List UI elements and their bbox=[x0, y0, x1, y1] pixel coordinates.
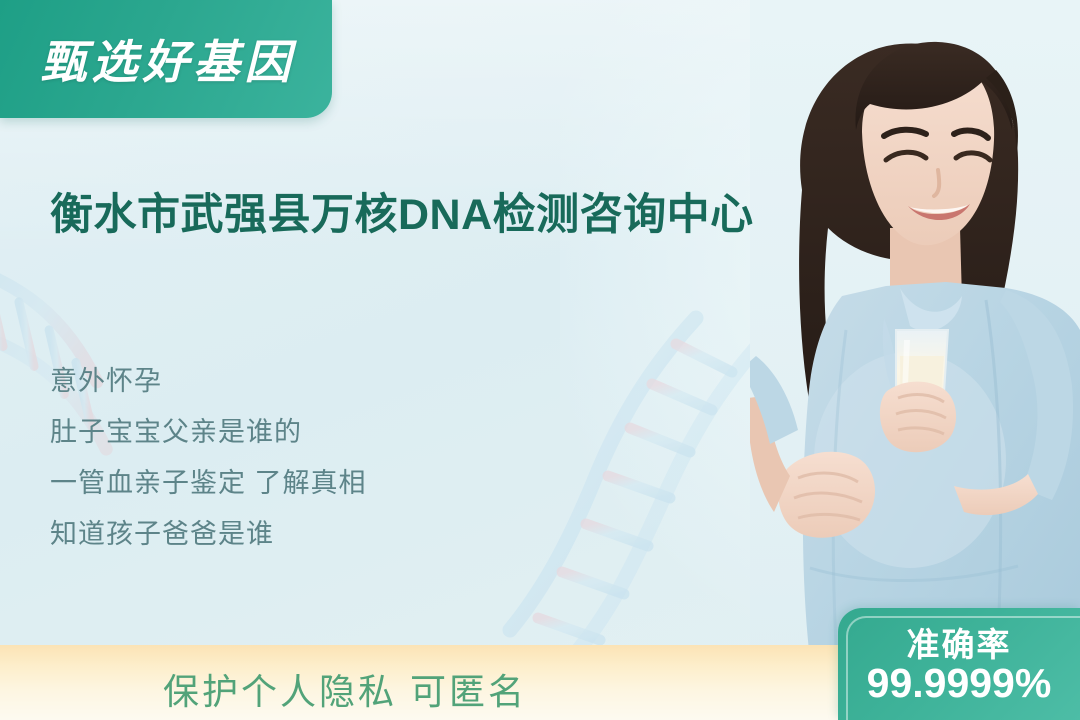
promo-copy-line: 知道孩子爸爸是谁 bbox=[50, 521, 367, 548]
promo-copy-block: 意外怀孕 肚子宝宝父亲是谁的 一管血亲子鉴定 了解真相 知道孩子爸爸是谁 bbox=[50, 368, 367, 548]
promo-poster: 甄选好基因 衡水市武强县万核DNA检测咨询中心 意外怀孕 肚子宝宝父亲是谁的 一… bbox=[0, 0, 1080, 720]
brand-logo-text: 甄选好基因 bbox=[37, 26, 296, 92]
accuracy-badge: 准确率 99.9999% bbox=[838, 608, 1080, 720]
privacy-statement: 保护个人隐私 可匿名 bbox=[163, 663, 527, 715]
page-title: 衡水市武强县万核DNA检测咨询中心 bbox=[50, 187, 840, 244]
brand-logo-banner: 甄选好基因 bbox=[0, 0, 332, 118]
accuracy-value: 99.9999% bbox=[838, 660, 1080, 707]
promo-copy-line: 意外怀孕 bbox=[50, 368, 367, 395]
promo-copy-line: 一管血亲子鉴定 了解真相 bbox=[50, 470, 367, 497]
accuracy-label: 准确率 bbox=[838, 618, 1080, 666]
promo-copy-line: 肚子宝宝父亲是谁的 bbox=[50, 419, 367, 446]
